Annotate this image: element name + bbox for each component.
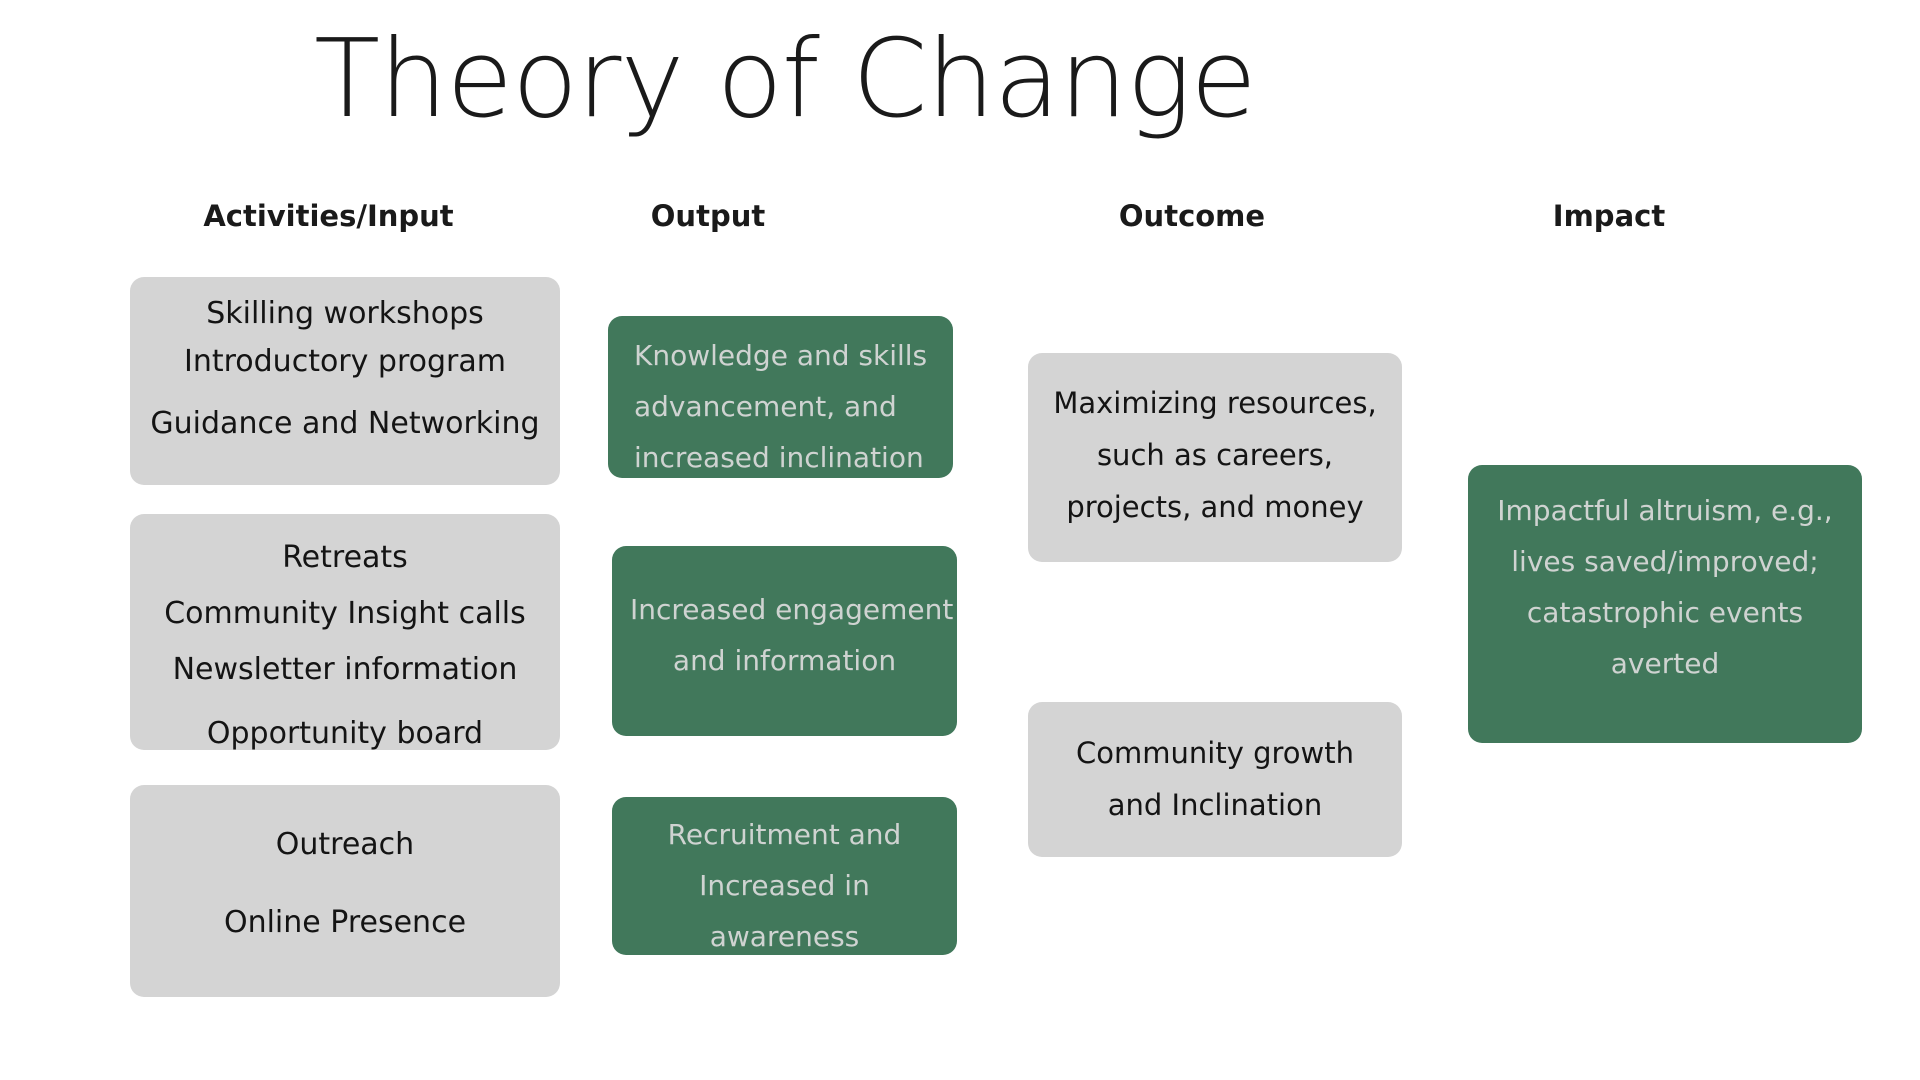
- box-text-line: Introductory program: [148, 338, 542, 386]
- box-text-line: awareness: [630, 911, 939, 962]
- column-header-output: Output: [601, 199, 815, 233]
- activities-box-3[interactable]: Outreach Online Presence: [130, 785, 560, 997]
- box-text-line: Newsletter information: [148, 642, 542, 698]
- box-text-line: such as careers,: [1046, 429, 1384, 481]
- output-box-2[interactable]: Increased engagement and information: [612, 546, 957, 736]
- activities-box-2[interactable]: Retreats Community Insight calls Newslet…: [130, 514, 560, 750]
- box-text-line: Recruitment and: [630, 809, 939, 860]
- box-text-lines: Recruitment and Increased in awareness: [630, 809, 939, 962]
- box-text-line: Increased engagement: [630, 584, 939, 635]
- box-text-line: Retreats: [148, 530, 542, 586]
- activities-box-1[interactable]: Skilling workshops Introductory program …: [130, 277, 560, 485]
- box-text-lines: Increased engagement and information: [630, 584, 939, 686]
- box-text-lines: Skilling workshops Introductory program …: [148, 290, 542, 448]
- box-text-lines: Impactful altruism, e.g., lives saved/im…: [1486, 485, 1844, 689]
- box-text-line: Opportunity board: [148, 706, 542, 762]
- box-text-line: Outreach: [148, 821, 542, 869]
- output-box-1[interactable]: Knowledge and skills advancement, and in…: [608, 316, 953, 478]
- box-text-line: Skilling workshops: [148, 290, 542, 338]
- box-text-line: Guidance and Networking: [148, 400, 542, 448]
- box-text-line: advancement, and: [634, 381, 931, 432]
- box-text-lines: Maximizing resources, such as careers, p…: [1046, 377, 1384, 533]
- box-text-line: Knowledge and skills: [634, 330, 931, 381]
- box-text-line: Community Insight calls: [148, 586, 542, 642]
- box-text-line: Online Presence: [148, 899, 542, 947]
- box-text-line: Impactful altruism, e.g.,: [1486, 485, 1844, 536]
- box-text-line: and information: [630, 635, 939, 686]
- box-text-lines: Knowledge and skills advancement, and in…: [634, 330, 931, 483]
- impact-box-1[interactable]: Impactful altruism, e.g., lives saved/im…: [1468, 465, 1862, 743]
- column-header-outcome: Outcome: [1068, 199, 1316, 233]
- page-title: Theory of Change: [0, 18, 1745, 142]
- box-text-line: lives saved/improved;: [1486, 536, 1844, 587]
- box-text-line: Community growth: [1046, 727, 1384, 779]
- box-text-line: Increased in: [630, 860, 939, 911]
- outcome-box-2[interactable]: Community growth and Inclination: [1028, 702, 1402, 857]
- output-box-3[interactable]: Recruitment and Increased in awareness: [612, 797, 957, 955]
- box-text-line: increased inclination: [634, 432, 931, 483]
- column-header-activities-input: Activities/Input: [199, 199, 458, 233]
- box-text-line: projects, and money: [1046, 481, 1384, 533]
- box-text-line: averted: [1486, 638, 1844, 689]
- box-text-lines: Retreats Community Insight calls Newslet…: [148, 530, 542, 762]
- box-text-line: Maximizing resources,: [1046, 377, 1384, 429]
- outcome-box-1[interactable]: Maximizing resources, such as careers, p…: [1028, 353, 1402, 562]
- column-header-impact: Impact: [1522, 199, 1696, 233]
- box-text-line: and Inclination: [1046, 779, 1384, 831]
- box-text-line: catastrophic events: [1486, 587, 1844, 638]
- box-text-lines: Community growth and Inclination: [1046, 727, 1384, 831]
- theory-of-change-diagram: Theory of Change Activities/Input Output…: [0, 0, 1920, 1080]
- box-text-lines: Outreach Online Presence: [148, 821, 542, 947]
